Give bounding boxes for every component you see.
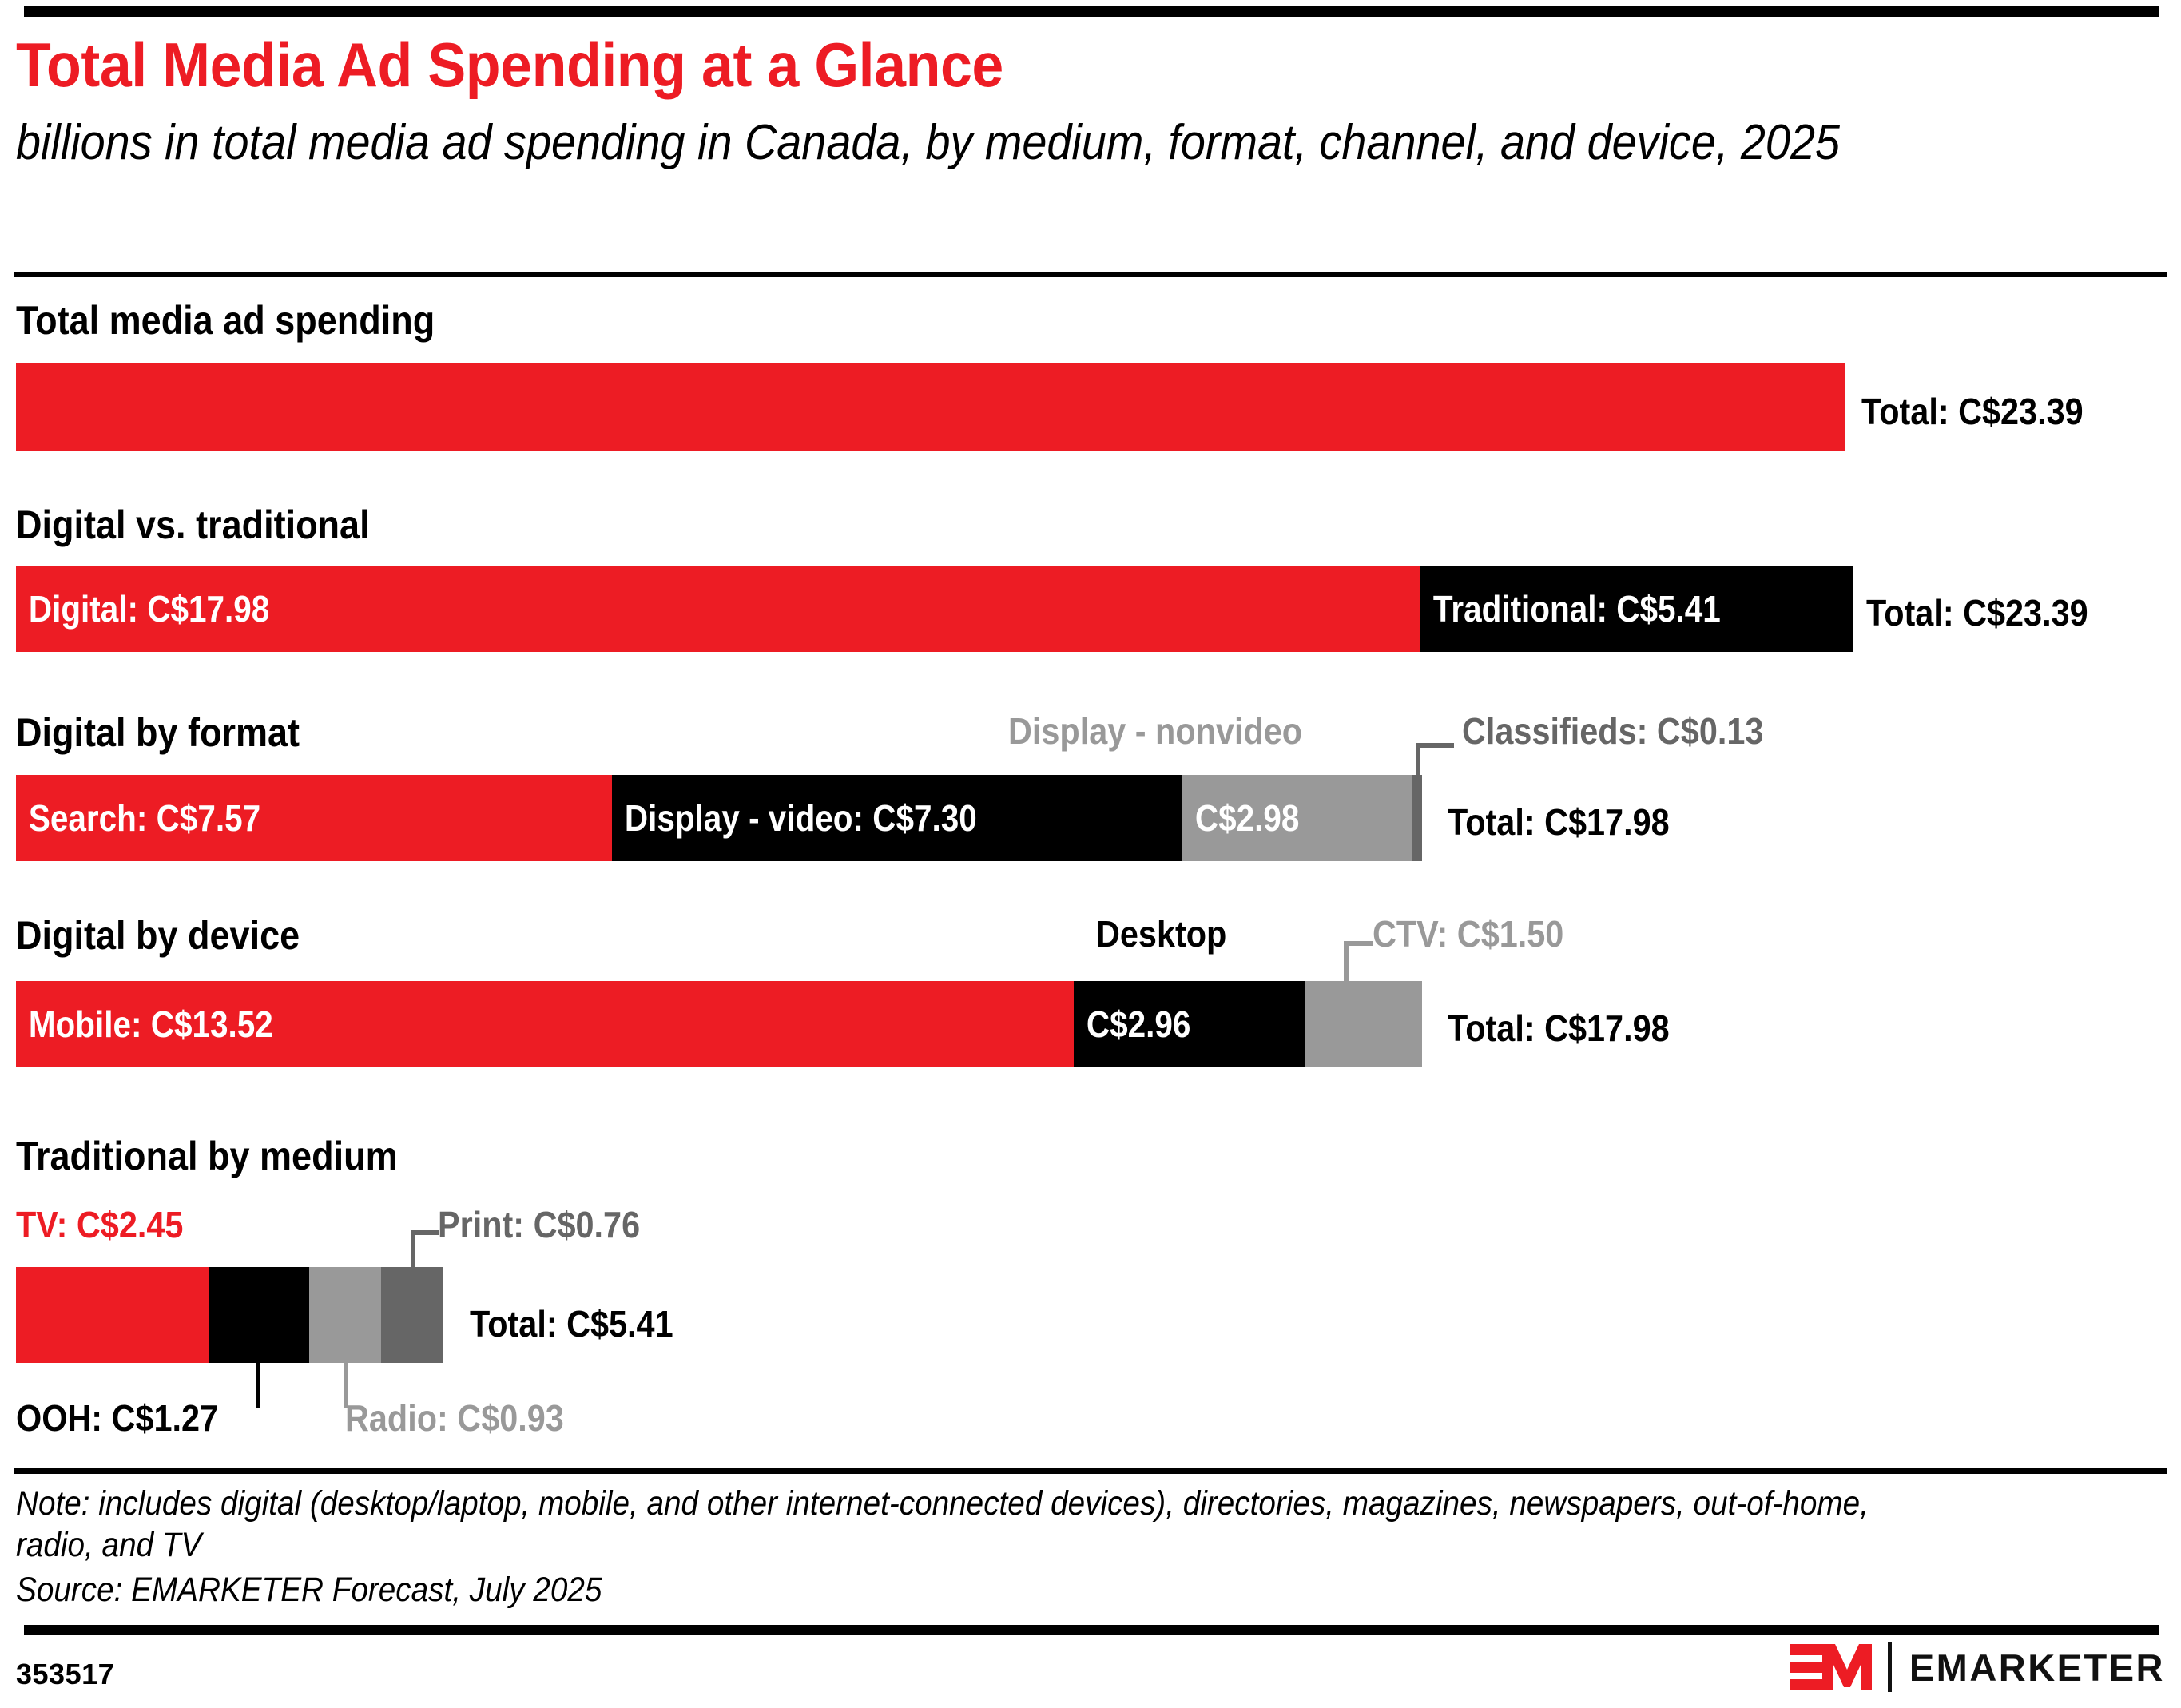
leader-line-classifieds-horizontal [1416,743,1454,748]
header-rule [14,272,2167,277]
source-text: Source: EMARKETER Forecast, July 2025 [16,1571,602,1610]
total-label-digital-by-device: Total: C$17.98 [1448,1007,1670,1050]
segment-total-media[interactable] [16,363,1845,451]
segment-radio[interactable] [309,1267,381,1363]
callout-desktop: Desktop [1096,912,1226,955]
infographic-canvas: Total Media Ad Spending at a Glance bill… [0,0,2181,1708]
segment-digital[interactable]: Digital: C$17.98 [16,566,1420,652]
segment-traditional-label: Traditional: C$5.41 [1420,587,1721,630]
total-label-traditional-by-medium: Total: C$5.41 [470,1302,673,1345]
bottom-rule [24,1625,2159,1635]
total-label-digital-by-format: Total: C$17.98 [1448,800,1670,844]
leader-line-ctv-vertical [1344,941,1349,981]
segment-display-video[interactable]: Display - video: C$7.30 [612,775,1182,861]
segment-mobile-label: Mobile: C$13.52 [16,1003,273,1046]
page-title: Total Media Ad Spending at a Glance [16,29,1003,101]
emarketer-logo[interactable]: EMARKETER [1790,1642,2165,1693]
chart-id: 353517 [16,1658,114,1691]
callout-radio: Radio: C$0.93 [345,1396,564,1440]
total-label-total-media: Total: C$23.39 [1861,390,2084,433]
segment-digital-label: Digital: C$17.98 [16,587,269,630]
callout-tv: TV: C$2.45 [16,1203,183,1246]
leader-line-ooh [256,1363,260,1408]
segment-display-nonvideo[interactable]: C$2.98 [1182,775,1412,861]
note-text: Note: includes digital (desktop/laptop, … [16,1483,1929,1567]
callout-ooh: OOH: C$1.27 [16,1396,218,1440]
segment-ctv[interactable] [1305,981,1422,1067]
segment-display-video-label: Display - video: C$7.30 [612,796,977,840]
leader-line-classifieds-vertical [1416,743,1420,777]
section-label-digital-vs-traditional: Digital vs. traditional [16,502,370,548]
bar-digital-by-format: Search: C$7.57 Display - video: C$7.30 C… [16,775,1422,861]
segment-desktop-label: C$2.96 [1074,1003,1190,1046]
section-label-digital-by-device: Digital by device [16,912,300,959]
section-label-total-media: Total media ad spending [16,297,435,344]
bar-total-media [16,363,1845,451]
segment-traditional[interactable]: Traditional: C$5.41 [1420,566,1853,652]
segment-ooh[interactable] [209,1267,309,1363]
callout-ctv: CTV: C$1.50 [1373,912,1563,955]
segment-print[interactable] [381,1267,443,1363]
total-label-digital-vs-traditional: Total: C$23.39 [1866,591,2088,634]
logo-divider [1888,1642,1892,1692]
leader-line-print-horizontal [411,1230,439,1235]
segment-mobile[interactable]: Mobile: C$13.52 [16,981,1074,1067]
segment-desktop[interactable]: C$2.96 [1074,981,1305,1067]
segment-display-nonvideo-label: C$2.98 [1182,796,1299,840]
bar-digital-by-device: Mobile: C$13.52 C$2.96 [16,981,1422,1067]
callout-classifieds: Classifieds: C$0.13 [1462,709,1763,753]
logo-wordmark: EMARKETER [1909,1646,2165,1690]
section-label-digital-by-format: Digital by format [16,709,300,756]
em-monogram-icon [1790,1642,1877,1692]
callout-print: Print: C$0.76 [438,1203,640,1246]
segment-tv[interactable] [16,1267,209,1363]
segment-classifieds[interactable] [1412,775,1422,861]
callout-display-nonvideo: Display - nonvideo [1008,709,1302,753]
top-rule [24,6,2159,17]
footer-rule [14,1468,2167,1474]
section-label-traditional-by-medium: Traditional by medium [16,1133,398,1179]
leader-line-ctv-horizontal [1344,941,1373,946]
segment-search[interactable]: Search: C$7.57 [16,775,612,861]
bar-traditional-by-medium [16,1267,443,1363]
bar-digital-vs-traditional: Digital: C$17.98 Traditional: C$5.41 [16,566,1853,652]
leader-line-print-vertical [411,1230,415,1267]
segment-search-label: Search: C$7.57 [16,796,260,840]
page-subtitle: billions in total media ad spending in C… [16,115,1857,172]
